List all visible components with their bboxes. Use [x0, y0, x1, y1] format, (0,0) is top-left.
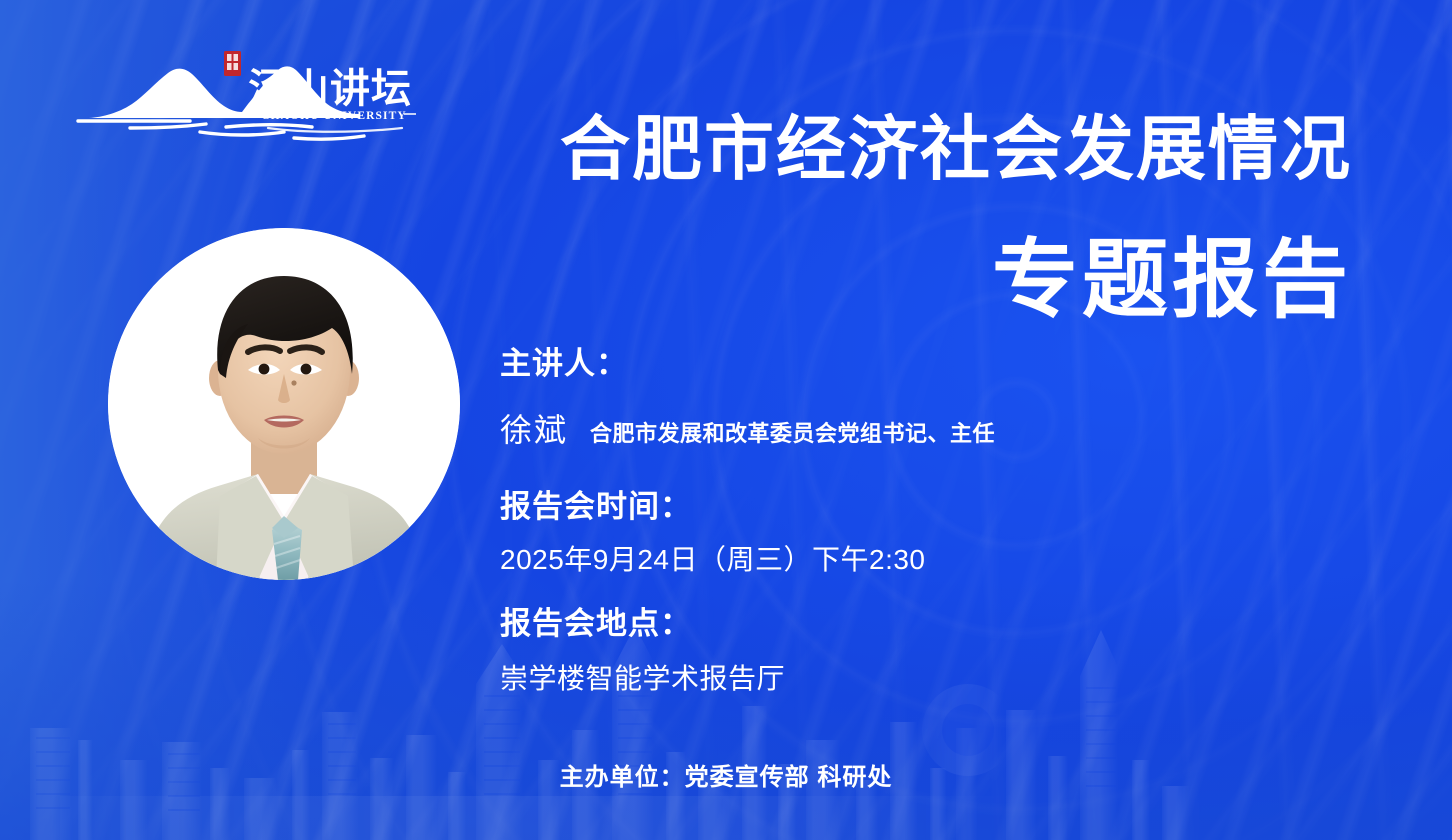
speaker-title: 合肥市发展和改革委员会党组书记、主任 — [590, 416, 995, 448]
speaker-label: 主讲人： — [500, 348, 1260, 379]
event-details: 主讲人： 徐斌 合肥市发展和改革委员会党组书记、主任 报告会时间： 2025年9… — [500, 348, 1260, 693]
speaker-portrait — [108, 228, 460, 580]
speaker-row: 徐斌 合肥市发展和改革委员会党组书记、主任 — [500, 405, 1260, 451]
water-lines — [78, 121, 364, 139]
place-value: 崇学楼智能学术报告厅 — [500, 665, 1260, 693]
time-value: 2025年9月24日（周三）下午2:30 — [500, 546, 1260, 574]
speaker-name: 徐斌 — [500, 405, 568, 451]
poster-headline: 合肥市经济社会发展情况 专题报告 — [560, 112, 1352, 329]
place-label: 报告会地点： — [500, 608, 1260, 639]
time-label: 报告会时间： — [500, 491, 1260, 522]
logo-brand-en: CHAOHU UNIVERSITY — [261, 110, 407, 122]
red-seal-icon — [224, 51, 241, 76]
headline-line-1: 合肥市经济社会发展情况 — [560, 112, 1352, 186]
headline-line-2: 专题报告 — [560, 232, 1352, 328]
chaohu-university-logo: 汤山讲坛 CHAOHU UNIVERSITY — [72, 48, 417, 144]
organizers-line: 主办单位：党委宣传部 科研处 — [0, 757, 1452, 792]
logo-brand-cn: 汤山讲坛 — [248, 66, 412, 112]
poster-canvas: 汤山讲坛 CHAOHU UNIVERSITY — [0, 0, 1452, 840]
